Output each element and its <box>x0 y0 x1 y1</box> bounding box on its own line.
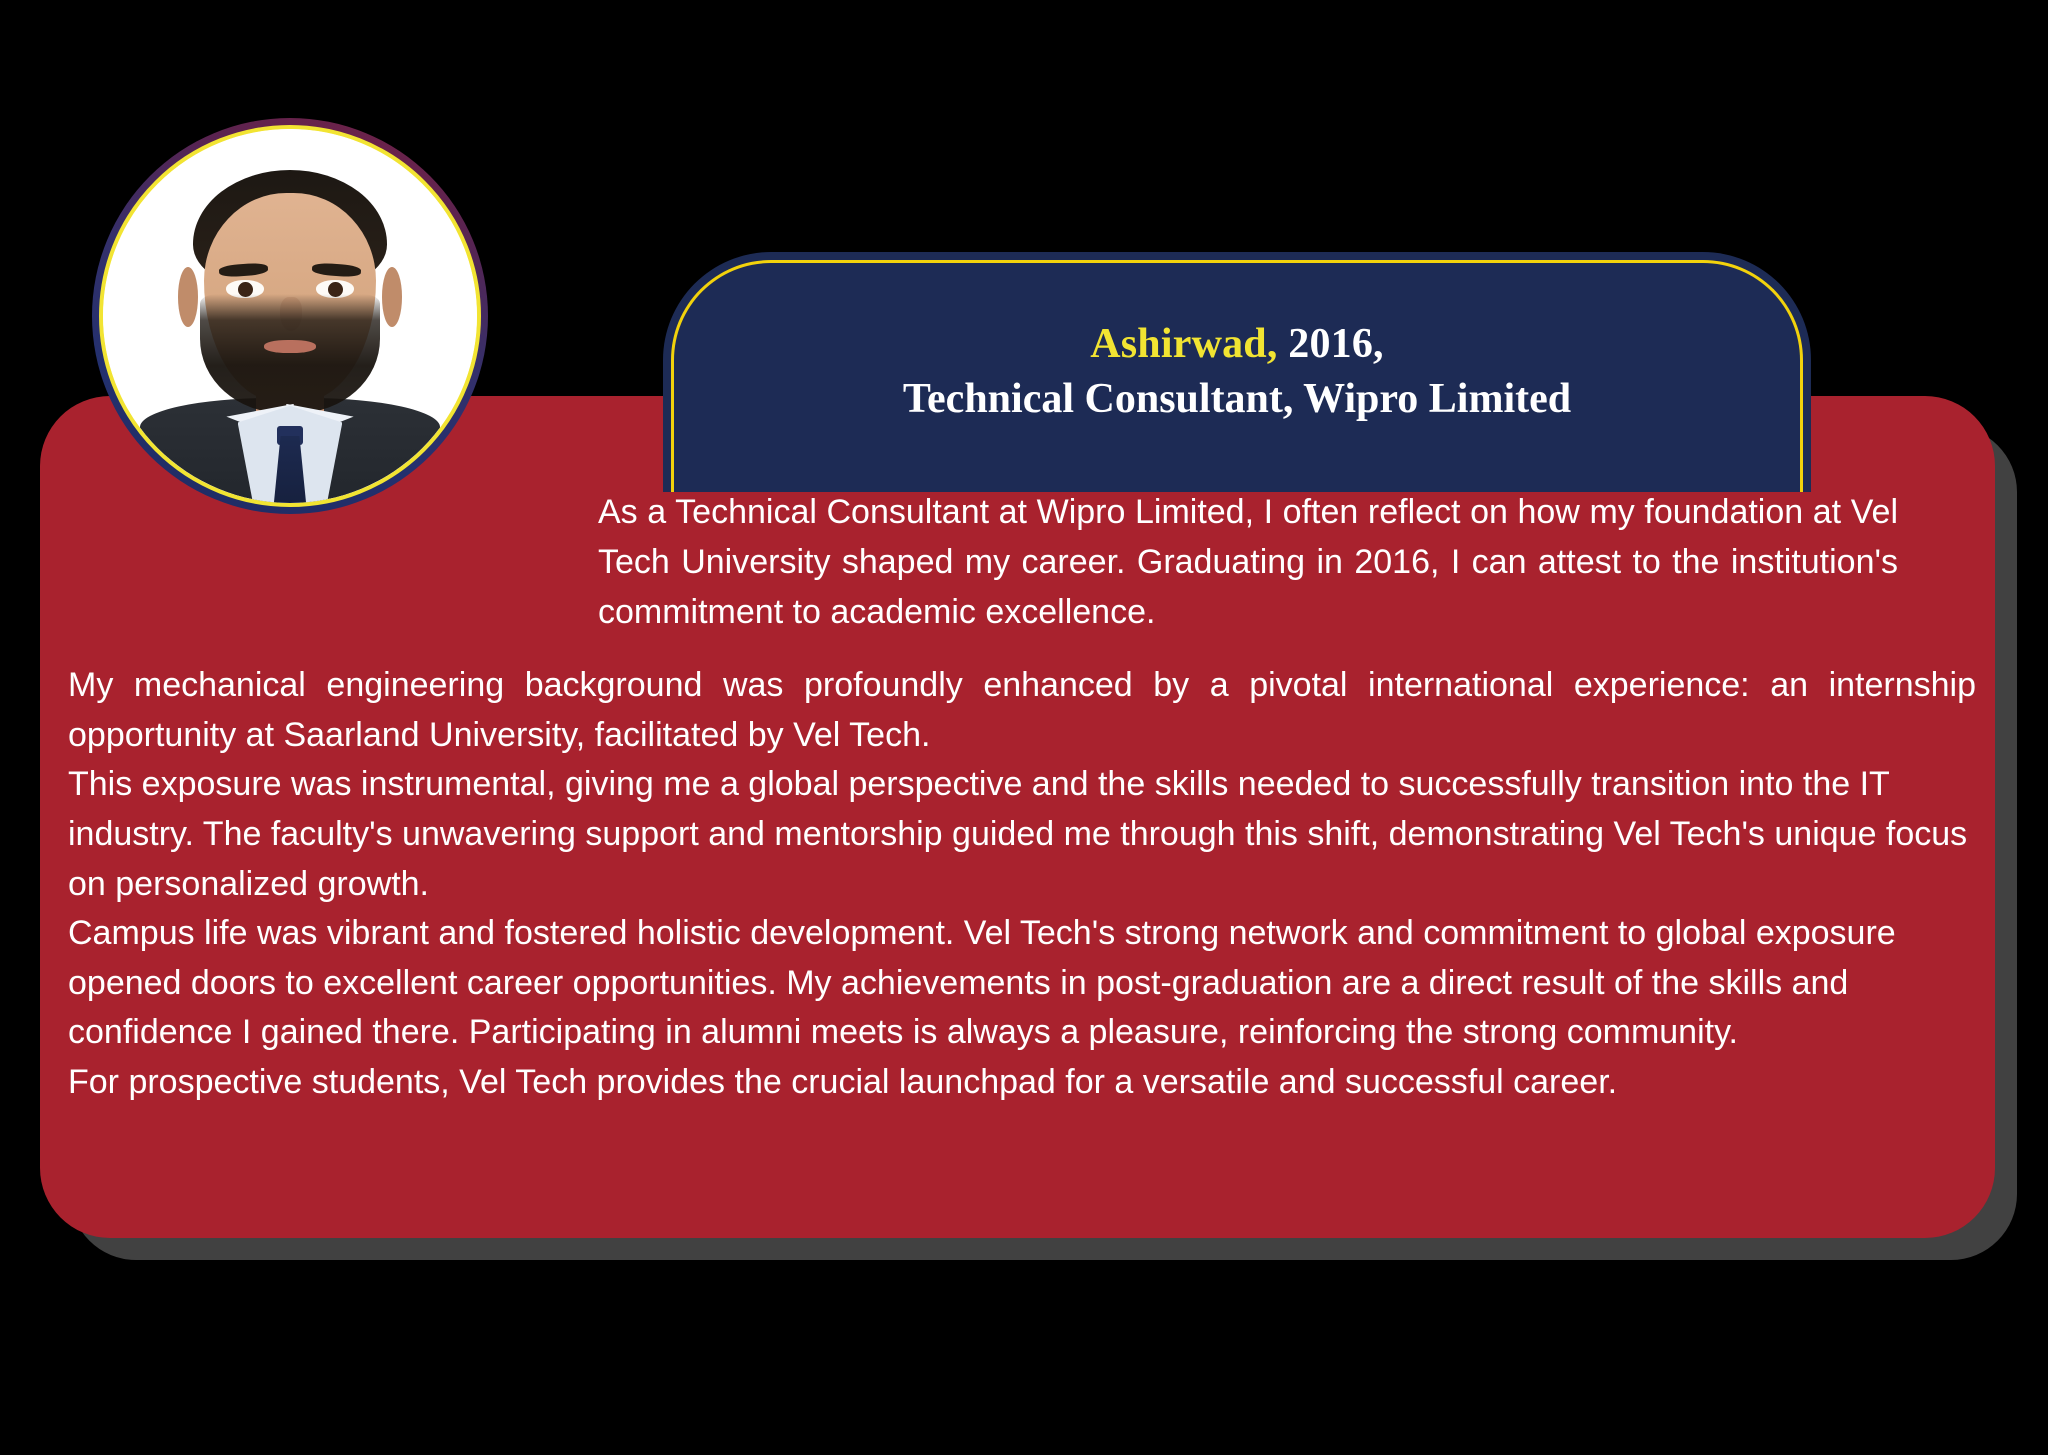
testimonial-paragraph: My mechanical engineering background was… <box>68 661 1976 760</box>
testimonial-paragraph: This exposure was instrumental, giving m… <box>68 760 1976 909</box>
portrait-beard-shape <box>200 294 380 414</box>
testimonial-body-text: My mechanical engineering background was… <box>68 661 1976 1108</box>
portrait-lips-shape <box>264 340 316 353</box>
header-title-group: Ashirwad, 2016, Technical Consultant, Wi… <box>663 252 1811 492</box>
testimonial-header-panel: Ashirwad, 2016, Technical Consultant, Wi… <box>663 252 1811 492</box>
testimonial-card: Ashirwad, 2016, Technical Consultant, Wi… <box>0 0 2048 1455</box>
testimonial-paragraph: For prospective students, Vel Tech provi… <box>68 1058 1976 1108</box>
avatar-yellow-ring <box>99 125 481 507</box>
alumnus-role: Technical Consultant, Wipro Limited <box>903 372 1571 427</box>
alumnus-name-year-line: Ashirwad, 2016, <box>1090 317 1384 372</box>
testimonial-intro-paragraph: As a Technical Consultant at Wipro Limit… <box>598 488 1898 638</box>
avatar <box>103 129 477 503</box>
avatar-gradient-ring <box>92 118 488 514</box>
testimonial-paragraph: Campus life was vibrant and fostered hol… <box>68 909 1976 1058</box>
alumnus-name: Ashirwad, <box>1090 321 1277 367</box>
graduation-year: 2016, <box>1278 321 1384 367</box>
